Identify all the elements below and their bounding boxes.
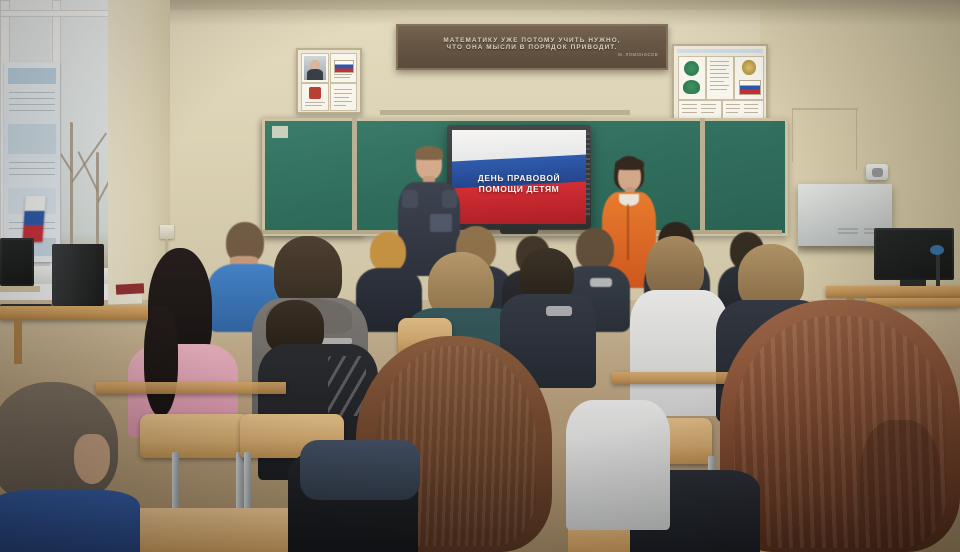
slide-title-line2: ПОМОЩИ ДЕТЯМ bbox=[452, 184, 586, 195]
left-pc-tower[interactable] bbox=[52, 244, 104, 306]
student-jeans-seated bbox=[300, 440, 420, 500]
student-foreground-boy bbox=[0, 382, 140, 552]
wall-cable-horizontal bbox=[792, 108, 858, 110]
left-desk-shelf bbox=[0, 286, 40, 292]
board-divider-left bbox=[352, 118, 357, 230]
student-pink-sweater bbox=[128, 248, 238, 438]
presenter-male-shoulder-patch-l bbox=[402, 190, 418, 208]
motto-line-1: МАТЕМАТИКУ УЖЕ ПОТОМУ УЧИТЬ НУЖНО, bbox=[443, 37, 620, 44]
slide-title-line1: ДЕНЬ ПРАВОВОЙ bbox=[452, 173, 586, 184]
notice-board-right bbox=[672, 44, 768, 124]
board-divider-right bbox=[700, 118, 705, 230]
coat-of-arms-icon bbox=[309, 87, 321, 99]
interactive-whiteboard[interactable]: ДЕНЬ ПРАВОВОЙ ПОМОЩИ ДЕТЯМ bbox=[447, 125, 591, 229]
notice-board-left bbox=[296, 48, 362, 114]
student-white-tee bbox=[630, 236, 728, 416]
screen-side-buttons[interactable] bbox=[586, 133, 590, 217]
chair-2-leg bbox=[244, 452, 251, 514]
presenter-female-hair-front bbox=[615, 158, 644, 170]
left-monitor[interactable] bbox=[0, 238, 34, 286]
left-desk-leg bbox=[14, 320, 22, 364]
wall-cable bbox=[856, 108, 857, 170]
right-monitor[interactable] bbox=[874, 228, 954, 280]
motto-author: М. ЛОМОНОСОВ bbox=[618, 52, 658, 57]
chair-1-leg-2 bbox=[236, 452, 243, 512]
window-transom bbox=[0, 10, 120, 17]
electrical-box bbox=[160, 225, 174, 239]
presenter-male-shoulder-patch-r bbox=[442, 190, 457, 208]
classroom-photo: МАТЕМАТИКУ УЖЕ ПОТОМУ УЧИТЬ НУЖНО, ЧТО О… bbox=[0, 0, 960, 552]
presenter-male-hair bbox=[415, 146, 443, 160]
speaker-cone bbox=[872, 168, 883, 177]
chair-1[interactable] bbox=[140, 414, 250, 458]
slide-screen: ДЕНЬ ПРАВОВОЙ ПОМОЩИ ДЕТЯМ bbox=[452, 130, 586, 224]
russian-flag-decor bbox=[22, 196, 45, 242]
motto-line-2: ЧТО ОНА МЫСЛИ В ПОРЯДОК ПРИВОДИТ. bbox=[447, 44, 618, 51]
right-desk bbox=[826, 286, 960, 298]
student-pink-hair-front bbox=[144, 306, 178, 416]
board-top-rail bbox=[380, 110, 630, 115]
slide-title: ДЕНЬ ПРАВОВОЙ ПОМОЩИ ДЕТЯМ bbox=[452, 173, 586, 195]
wall-cable-2 bbox=[792, 108, 793, 162]
wall-motto-banner: МАТЕМАТИКУ УЖЕ ПОТОМУ УЧИТЬ НУЖНО, ЧТО О… bbox=[396, 24, 668, 70]
board-label bbox=[272, 126, 288, 138]
desk-microphone[interactable] bbox=[936, 250, 940, 290]
mic-head bbox=[930, 245, 944, 255]
student-light-top-right bbox=[566, 400, 670, 530]
presenter-female-collar bbox=[619, 194, 639, 206]
